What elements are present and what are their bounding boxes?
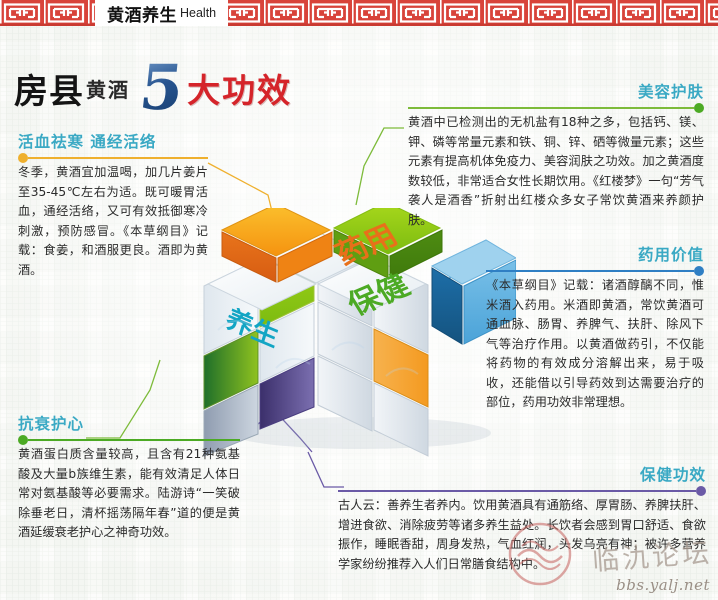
banner-title-cn: 黄酒养生 [107,1,177,26]
callout-huoxue-dot [18,153,28,163]
infographic-root: 黄酒养生 Health 房县 黄酒 5 大功效 [0,0,718,600]
callout-meirong-body: 黄酒中已检测出的无机盐有18种之多，包括钙、镁、钾、磷等常量元素和铁、铜、锌、硒… [408,113,704,230]
callout-baojian-rule [338,486,706,496]
callout-baojian-dot [696,486,706,496]
callout-kangshuai-body: 黄酒蛋白质含量较高，且含有21种氨基酸及大量b族维生素，能有效清足人体日常对氨基… [18,445,240,543]
banner-title: 黄酒养生 Health [95,0,228,26]
callout-meirong-line [408,107,694,109]
page-headline: 房县 黄酒 5 大功效 [14,58,292,118]
headline-numeral: 5 [137,57,187,119]
callout-baojian-title: 保健功效 [338,463,706,485]
callout-yaoyong-rule [486,266,704,276]
callout-yaoyong: 药用价值 《本草纲目》记载：诸酒醇醨不同，惟米酒入药用。米酒即黄酒，常饮黄酒可通… [486,243,704,413]
cube-svg: 药用 保健 养生 [196,208,516,458]
callout-meirong: 美容护肤 黄酒中已检测出的无机盐有18种之多，包括钙、镁、钾、磷等常量元素和铁、… [408,80,704,230]
callout-yaoyong-body: 《本草纲目》记载：诸酒醇醨不同，惟米酒入药用。米酒即黄酒，常饮黄酒可通血脉、肠胃… [486,276,704,413]
watermark-site: bbs.yalj.net [616,576,710,594]
callout-kangshuai-line [28,439,240,441]
callout-huoxue-body: 冬季，黄酒宜加温喝，加几片姜片至35-45℃左右为适。既可暖胃活血，通经活络，又… [18,163,208,280]
headline-main: 房县 [14,64,84,113]
callout-meirong-dot [694,103,704,113]
callout-huoxue-title: 活血祛寒 通经活络 [18,130,208,152]
watermark-name-cn: 临氿论坛 [591,531,713,578]
callout-yaoyong-title: 药用价值 [486,243,704,265]
callout-kangshuai-dot [18,435,28,445]
callout-huoxue-rule [18,153,208,163]
callout-yaoyong-line [486,270,694,272]
callout-kangshuai: 抗衰护心 黄酒蛋白质含量较高，且含有21种氨基酸及大量b族维生素，能有效清足人体… [18,412,240,543]
callout-kangshuai-title: 抗衰护心 [18,412,240,434]
headline-sub: 黄酒 [86,74,130,103]
rubiks-cube-illustration: 药用 保健 养生 [196,208,516,458]
callout-huoxue-line [28,157,208,159]
callout-kangshuai-rule [18,435,240,445]
callout-meirong-title: 美容护肤 [408,80,704,102]
top-banner: 黄酒养生 Health [0,0,718,26]
banner-title-en: Health [180,6,216,20]
callout-huoxue: 活血祛寒 通经活络 冬季，黄酒宜加温喝，加几片姜片至35-45℃左右为适。既可暖… [18,130,208,280]
callout-yaoyong-dot [694,266,704,276]
headline-effect: 大功效 [187,64,292,112]
callout-baojian-line [338,490,696,492]
callout-meirong-rule [408,103,704,113]
